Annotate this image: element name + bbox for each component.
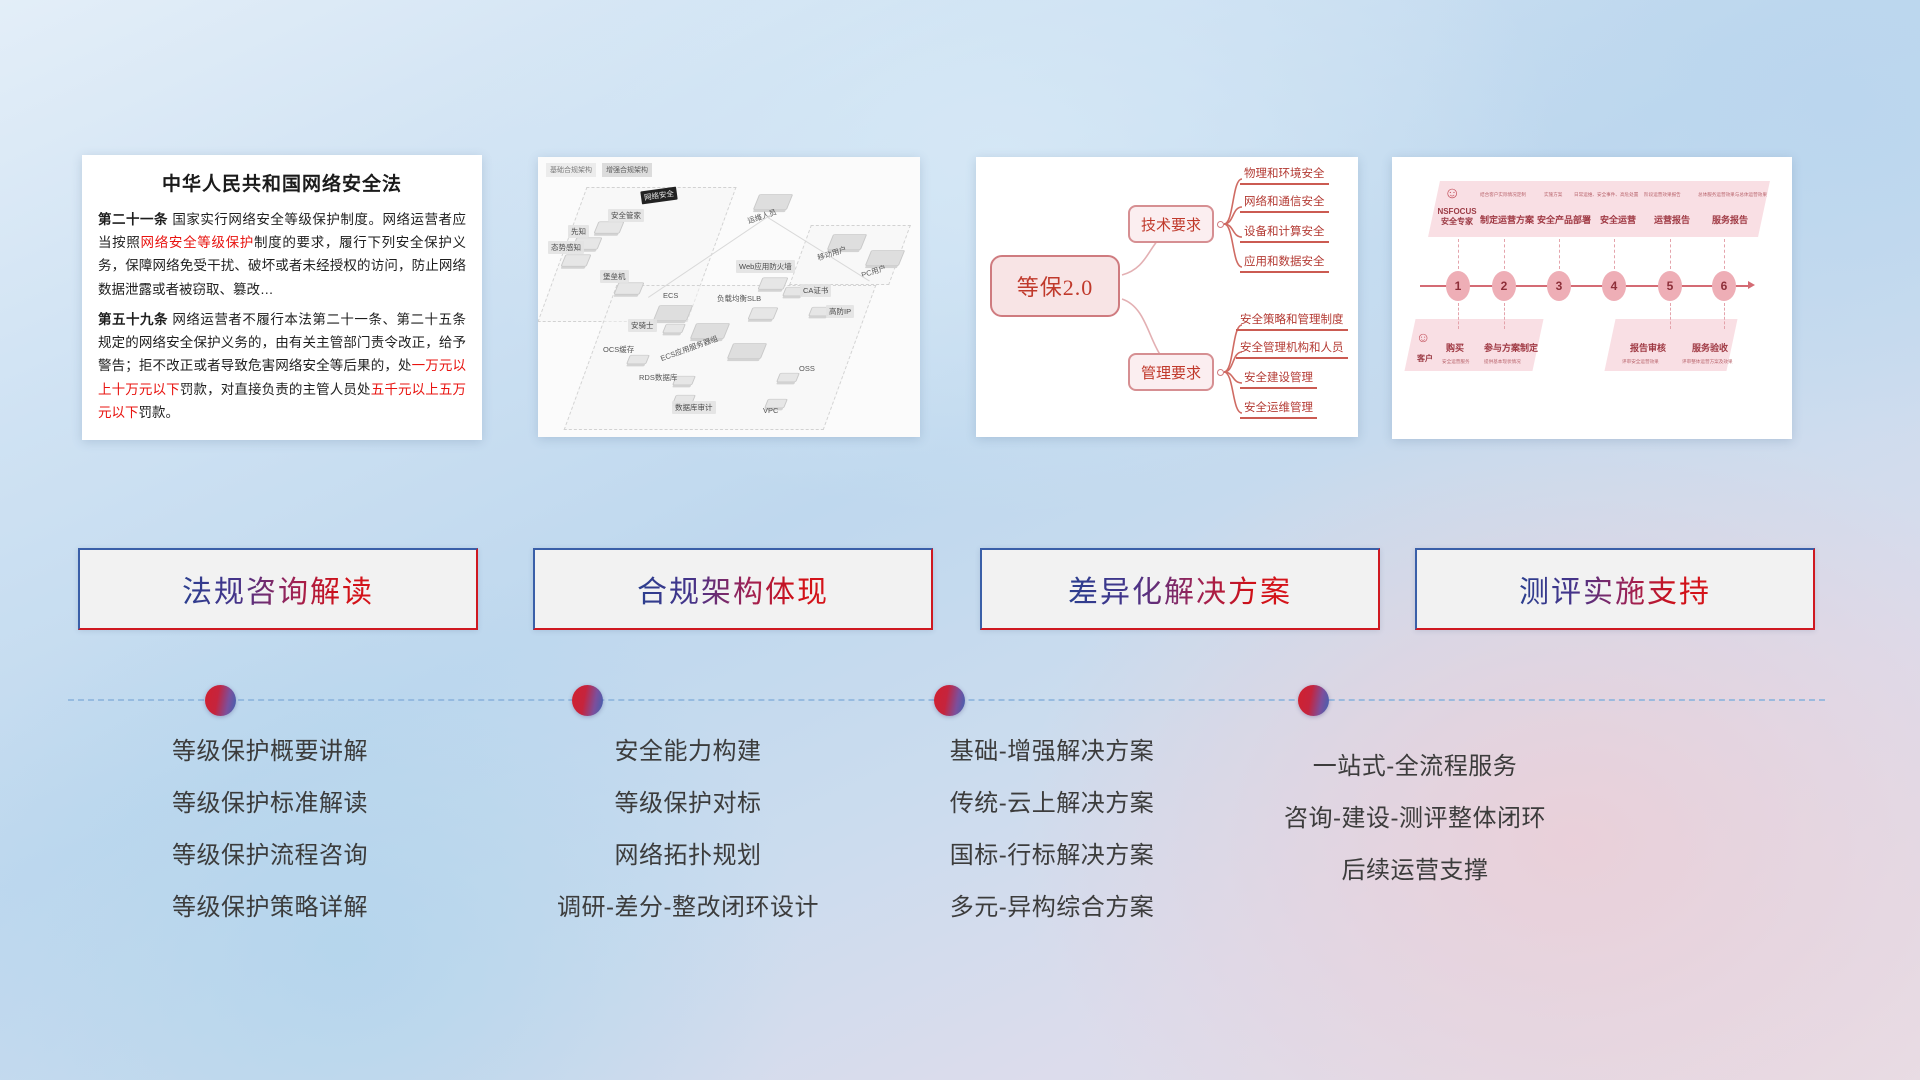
roadmap-connector-6-down xyxy=(1724,303,1725,329)
bullet-item: 一站式-全流程服务 xyxy=(1205,755,1625,779)
architecture-cube-ocs-cache xyxy=(626,355,650,364)
roadmap-role-customer: 客户 xyxy=(1410,354,1440,364)
architecture-cube-security-butler xyxy=(594,221,625,233)
article-21-highlight: 网络安全等级保护 xyxy=(141,235,254,250)
bullet-item: 调研-差分-整改闭环设计 xyxy=(478,896,898,920)
roadmap-expert-sub-6: 总体服务运营效果与总体运营效果 xyxy=(1698,192,1767,198)
architecture-cube-oss xyxy=(776,373,800,382)
mindmap-leaf-security-ops[interactable]: 安全运维管理 xyxy=(1240,399,1317,419)
roadmap-node-3[interactable]: 3 xyxy=(1547,271,1571,301)
bullet-item: 安全能力构建 xyxy=(478,740,898,764)
section-title-1: 法规咨询解读 xyxy=(182,567,374,611)
architecture-node-ecs: ECS xyxy=(660,290,681,301)
roadmap-connector-6 xyxy=(1724,239,1725,269)
roadmap-customer-step-2: 参与方案制定 xyxy=(1484,341,1538,354)
roadmap-connector-3 xyxy=(1559,239,1560,269)
roadmap-customer-sub-1: 安全运营服务 xyxy=(1442,359,1470,365)
roadmap-expert-step-3: 安全产品部署 xyxy=(1537,213,1591,226)
bullet-item: 传统-云上解决方案 xyxy=(842,792,1262,816)
architecture-node-anti-ddos-ip: 高防IP xyxy=(826,305,854,318)
law-article-21: 第二十一条 国家实行网络安全等级保护制度。网络运营者应当按照网络安全等级保护制度… xyxy=(98,208,466,301)
bullet-item: 后续运营支撑 xyxy=(1205,859,1625,883)
roadmap-expert-step-4: 安全运营 xyxy=(1600,213,1636,226)
slide-canvas: 中华人民共和国网络安全法 第二十一条 国家实行网络安全等级保护制度。网络运营者应… xyxy=(0,0,1920,1080)
bullet-item: 等级保护策略详解 xyxy=(60,896,480,920)
architecture-tab-basic[interactable]: 基础合规架构 xyxy=(546,163,596,177)
architecture-cube-slb xyxy=(748,307,779,319)
bullet-column-4: 一站式-全流程服务 咨询-建设-测评整体闭环 后续运营支撑 xyxy=(1205,755,1625,911)
architecture-node-situational-awareness: 态势感知 xyxy=(548,241,584,254)
roadmap-customer-step-3: 报告审核 xyxy=(1630,341,1666,354)
section-title-4: 测评实施支持 xyxy=(1519,567,1711,611)
architecture-canvas: 基础合规架构 增强合规架构 网络安全 安全管家 先知 态势感知 堡垒机 运维人员… xyxy=(538,157,920,437)
architecture-cube-anqishi xyxy=(662,324,686,333)
article-21-label: 第二十一条 xyxy=(98,212,168,227)
roadmap-expert-step-2: 制定运营方案 xyxy=(1480,213,1534,226)
section-title-3: 差异化解决方案 xyxy=(1068,567,1292,611)
architecture-node-vpc: VPC xyxy=(760,405,781,416)
architecture-cube-waf xyxy=(758,277,789,289)
architecture-node-db-audit: 数据库审计 xyxy=(672,401,716,414)
mindmap-branch-technical[interactable]: 技术要求 xyxy=(1128,205,1214,243)
architecture-cube-situational-awareness xyxy=(561,254,592,266)
roadmap-node-6[interactable]: 6 xyxy=(1712,271,1736,301)
architecture-node-security-butler: 安全管家 xyxy=(608,209,644,222)
roadmap-connector-2-down xyxy=(1504,303,1505,329)
timeline-marker-4[interactable] xyxy=(1298,685,1329,716)
roadmap-expert-sub-3: 实施方案 xyxy=(1544,192,1562,198)
bullet-column-3: 基础-增强解决方案 传统-云上解决方案 国标-行标解决方案 多元-异构综合方案 xyxy=(842,740,1262,948)
roadmap-connector-1 xyxy=(1458,239,1459,269)
roadmap-expert-sub-2: 结合客户实际情况定制 xyxy=(1480,192,1526,198)
customer-person-icon: ☺ xyxy=(1416,329,1430,345)
architecture-tab-enhanced[interactable]: 增强合规架构 xyxy=(602,163,652,177)
architecture-cube-ecs-group-b xyxy=(727,343,767,359)
architecture-tabs: 基础合规架构 增强合规架构 xyxy=(546,163,652,177)
mindmap-collapse-dot-technical[interactable] xyxy=(1217,221,1224,228)
bullet-item: 网络拓扑规划 xyxy=(478,844,898,868)
roadmap-role-expert: NSFOCUS安全专家 xyxy=(1426,207,1488,226)
mindmap-leaf-physical-env-security[interactable]: 物理和环境安全 xyxy=(1240,165,1329,185)
bullet-column-2: 安全能力构建 等级保护对标 网络拓扑规划 调研-差分-整改闭环设计 xyxy=(478,740,898,948)
roadmap-expert-step-6: 服务报告 xyxy=(1712,213,1748,226)
bullet-item: 等级保护流程咨询 xyxy=(60,844,480,868)
section-title-box-1[interactable]: 法规咨询解读 xyxy=(78,548,478,630)
bullet-item: 多元-异构综合方案 xyxy=(842,896,1262,920)
roadmap-node-5[interactable]: 5 xyxy=(1658,271,1682,301)
roadmap-connector-4 xyxy=(1614,239,1615,269)
bullet-item: 等级保护对标 xyxy=(478,792,898,816)
mindmap-leaf-app-data-security[interactable]: 应用和数据安全 xyxy=(1240,253,1329,273)
section-title-2: 合规架构体现 xyxy=(637,567,829,611)
law-body: 中华人民共和国网络安全法 第二十一条 国家实行网络安全等级保护制度。网络运营者应… xyxy=(82,155,482,434)
architecture-cube-bastion-host xyxy=(614,282,645,294)
roadmap-expert-sub-5: 阶段运营效果报告 xyxy=(1644,192,1681,198)
roadmap-node-1[interactable]: 1 xyxy=(1446,271,1470,301)
roadmap-connector-5 xyxy=(1670,239,1671,269)
mindmap-branch-management[interactable]: 管理要求 xyxy=(1128,353,1214,391)
section-title-box-4[interactable]: 测评实施支持 xyxy=(1415,548,1815,630)
architecture-node-xianzhi: 先知 xyxy=(568,225,589,238)
roadmap-customer-step-4: 服务验收 xyxy=(1692,341,1728,354)
roadmap-customer-sub-3: 评审安全运营效果 xyxy=(1622,359,1659,365)
architecture-node-ca-cert: CA证书 xyxy=(800,284,831,297)
roadmap-node-2[interactable]: 2 xyxy=(1492,271,1516,301)
roadmap-customer-sub-4: 评审整体运营方案及效果 xyxy=(1682,359,1733,365)
architecture-cube-ecs xyxy=(653,305,693,321)
timeline-marker-3[interactable] xyxy=(934,685,965,716)
architecture-node-rds: RDS数据库 xyxy=(636,371,680,384)
bullet-item: 国标-行标解决方案 xyxy=(842,844,1262,868)
roadmap-connector-2 xyxy=(1504,239,1505,269)
card-mindmap: 等保2.0 技术要求 物理和环境安全 网络和通信安全 设备和计算安全 应用和数据… xyxy=(976,157,1358,437)
roadmap-expert-sub-4: 日常运维、安全事件、高危处置 xyxy=(1574,192,1638,198)
architecture-node-waf: Web应用防火墙 xyxy=(736,260,795,273)
roadmap-expert-step-5: 运营报告 xyxy=(1654,213,1690,226)
mindmap-leaf-device-compute-security[interactable]: 设备和计算安全 xyxy=(1240,223,1329,243)
mindmap-canvas: 等保2.0 技术要求 物理和环境安全 网络和通信安全 设备和计算安全 应用和数据… xyxy=(976,157,1358,437)
roadmap-customer-sub-2: 提供基本现状情况 xyxy=(1484,359,1521,365)
expert-person-icon: ☺ xyxy=(1444,185,1460,203)
bullet-item: 等级保护概要讲解 xyxy=(60,740,480,764)
roadmap-connector-5-down xyxy=(1670,303,1671,329)
roadmap-customer-step-1: 购买 xyxy=(1446,341,1464,354)
section-title-box-2[interactable]: 合规架构体现 xyxy=(533,548,933,630)
law-article-59: 第五十九条 网络运营者不履行本法第二十一条、第二十五条规定的网络安全保护义务的，… xyxy=(98,308,466,424)
roadmap-canvas: ☺ NSFOCUS安全专家 结合客户实际情况定制 制定运营方案 实施方案 安全产… xyxy=(1392,157,1792,439)
article-59-part2: 罚款，对直接负责的主管人员处 xyxy=(180,382,371,397)
timeline-marker-1[interactable] xyxy=(205,685,236,716)
mindmap-leaf-security-policy[interactable]: 安全策略和管理制度 xyxy=(1236,311,1348,331)
timeline-marker-2[interactable] xyxy=(572,685,603,716)
bullet-item: 等级保护标准解读 xyxy=(60,792,480,816)
article-59-label: 第五十九条 xyxy=(98,312,168,327)
roadmap-axis-arrow-icon xyxy=(1748,281,1755,289)
mindmap-leaf-network-comm-security[interactable]: 网络和通信安全 xyxy=(1240,193,1329,213)
bullet-column-1: 等级保护概要讲解 等级保护标准解读 等级保护流程咨询 等级保护策略详解 xyxy=(60,740,480,948)
card-architecture-diagram: 基础合规架构 增强合规架构 网络安全 安全管家 先知 态势感知 堡垒机 运维人员… xyxy=(538,157,920,437)
architecture-node-bastion-host: 堡垒机 xyxy=(600,270,629,283)
law-title: 中华人民共和国网络安全法 xyxy=(98,169,466,196)
article-59-part3: 罚款。 xyxy=(139,405,180,420)
mindmap-collapse-dot-management[interactable] xyxy=(1217,369,1224,376)
architecture-node-ocs-cache: OCS缓存 xyxy=(600,343,637,356)
roadmap-node-4[interactable]: 4 xyxy=(1602,271,1626,301)
mindmap-leaf-security-construction[interactable]: 安全建设管理 xyxy=(1240,369,1317,389)
architecture-node-slb: 负载均衡SLB xyxy=(714,292,764,305)
section-title-box-3[interactable]: 差异化解决方案 xyxy=(980,548,1380,630)
roadmap-connector-1-down xyxy=(1458,303,1459,329)
mindmap-root-node[interactable]: 等保2.0 xyxy=(990,255,1120,317)
card-law-text: 中华人民共和国网络安全法 第二十一条 国家实行网络安全等级保护制度。网络运营者应… xyxy=(82,155,482,440)
bullet-item: 基础-增强解决方案 xyxy=(842,740,1262,764)
mindmap-leaf-security-org-personnel[interactable]: 安全管理机构和人员 xyxy=(1236,339,1348,359)
card-service-roadmap: ☺ NSFOCUS安全专家 结合客户实际情况定制 制定运营方案 实施方案 安全产… xyxy=(1392,157,1792,439)
architecture-node-anqishi: 安骑士 xyxy=(628,319,657,332)
architecture-node-oss: OSS xyxy=(796,363,818,374)
bullet-item: 咨询-建设-测评整体闭环 xyxy=(1205,807,1625,831)
